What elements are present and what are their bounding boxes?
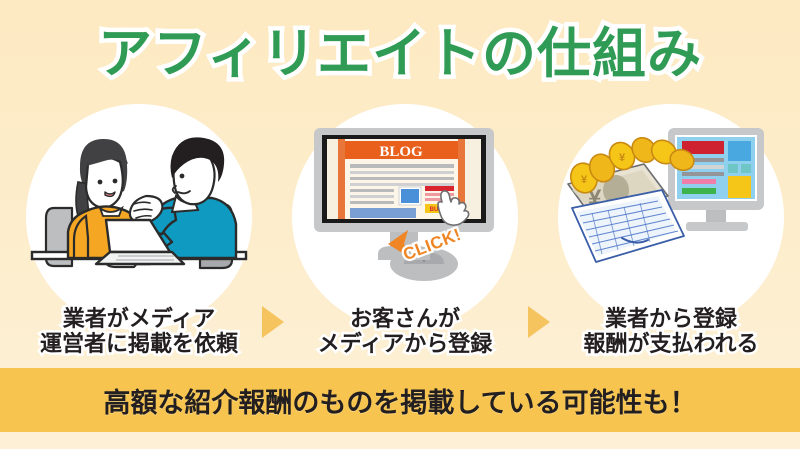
step-caption-3: 業者から登録 報酬が支払われる <box>546 306 796 356</box>
step-caption-1-line1: 業者がメディア <box>14 306 264 331</box>
svg-text:BLOG: BLOG <box>379 144 423 160</box>
svg-text:¥: ¥ <box>581 174 588 186</box>
bottom-banner-text: 高額な紹介報酬のものを掲載している可能性も！ <box>103 381 696 420</box>
step-panel-1: 業者がメディア 運営者に掲載を依頼 <box>14 104 264 356</box>
step-caption-2: お客さんが メディアから登録 <box>280 306 530 356</box>
meeting-illustration <box>26 112 252 282</box>
page-title: アフィリエイトの仕組み <box>98 27 702 81</box>
step-caption-1-line2: 運営者に掲載を依頼 <box>14 331 264 356</box>
step-panel-3: ¥ <box>546 104 796 356</box>
step-caption-3-line2: 報酬が支払われる <box>546 331 796 356</box>
bottom-banner: 高額な紹介報酬のものを掲載している可能性も！ <box>0 368 800 432</box>
step-caption-1: 業者がメディア 運営者に掲載を依頼 <box>14 306 264 356</box>
step-caption-2-line2: メディアから登録 <box>280 331 530 356</box>
step-caption-2-line1: お客さんが <box>280 306 530 331</box>
step-caption-3-line1: 業者から登録 <box>546 306 796 331</box>
title-container: アフィリエイトの仕組み <box>0 16 800 92</box>
infographic-root: アフィリエイトの仕組み <box>0 0 800 449</box>
money-bankbook-monitor-illustration: ¥ <box>558 112 784 282</box>
monitor-blog-click-illustration: BLOG <box>292 112 518 282</box>
svg-text:¥: ¥ <box>619 152 626 164</box>
steps-container: 業者がメディア 運営者に掲載を依頼 <box>0 104 800 356</box>
step-panel-2: BLOG <box>280 104 530 356</box>
